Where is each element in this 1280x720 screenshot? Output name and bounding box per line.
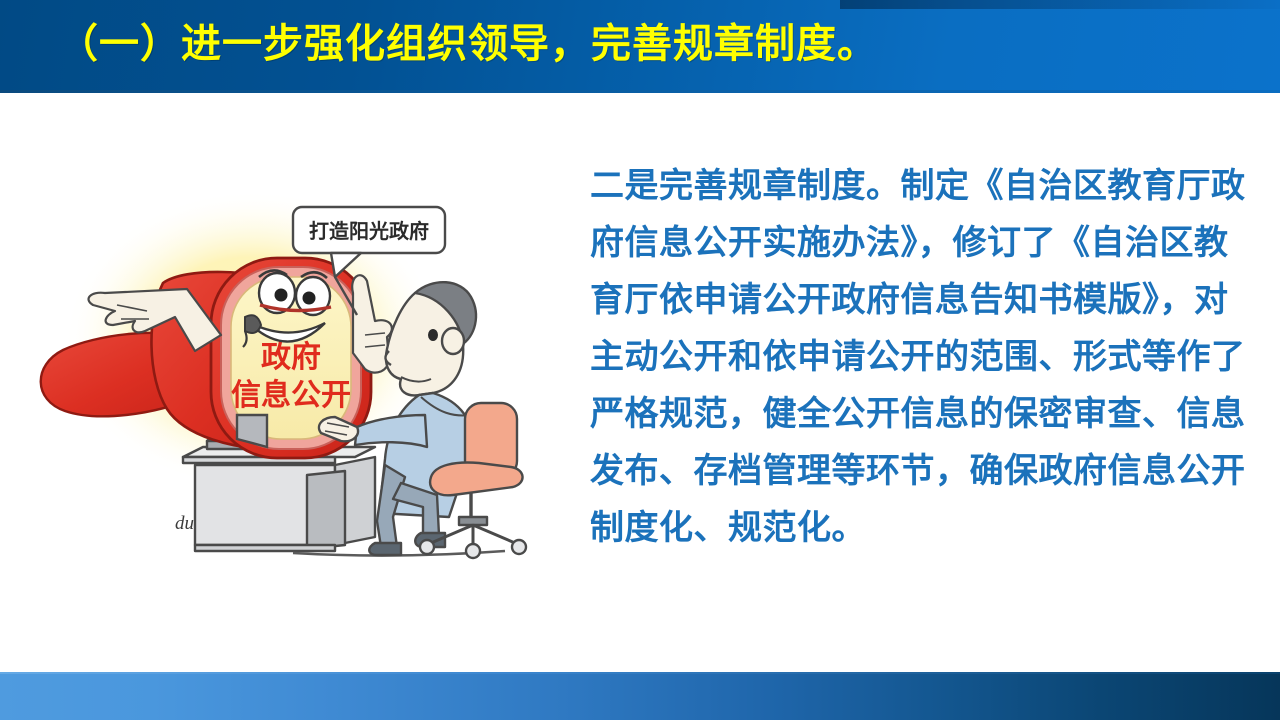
slide-footer-bar [0,672,1280,720]
body-text-block: 二是完善规章制度。制定《自治区教育厅政 府信息公开实施办法》，修订了《自治区教 … [590,158,1250,557]
body-line: 府信息公开实施办法》，修订了《自治区教 [590,215,1250,272]
body-line: 严格规范，健全公开信息的保密审查、信息 [590,386,1250,443]
magnifier-label-line1: 政府 [261,340,321,375]
speech-bubble-text: 打造阳光政府 [309,219,429,243]
body-line: 育厅依申请公开政府信息告知书模版》，对 [590,272,1250,329]
header-underline [0,90,1280,93]
artist-signature: du [175,513,194,534]
header-top-accent-strip [840,0,1280,9]
slide: （一）进一步强化组织领导，完善规章制度。 [0,0,1280,720]
body-line: 发布、存档管理等环节，确保政府信息公开 [590,443,1250,500]
magnifier-label-line2: 信息公开 [231,378,351,413]
page-title: （一）进一步强化组织领导，完善规章制度。 [58,15,878,73]
slide-header: （一）进一步强化组织领导，完善规章制度。 [0,0,1280,93]
footer-highlight-line [0,672,1280,674]
body-line: 二是完善规章制度。制定《自治区教育厅政 [590,158,1250,215]
body-line: 制度化、规范化。 [590,500,1250,557]
illustration-cartoon: 政府 信息公开 [35,165,535,595]
body-line: 主动公开和依申请公开的范围、形式等作了 [590,329,1250,386]
